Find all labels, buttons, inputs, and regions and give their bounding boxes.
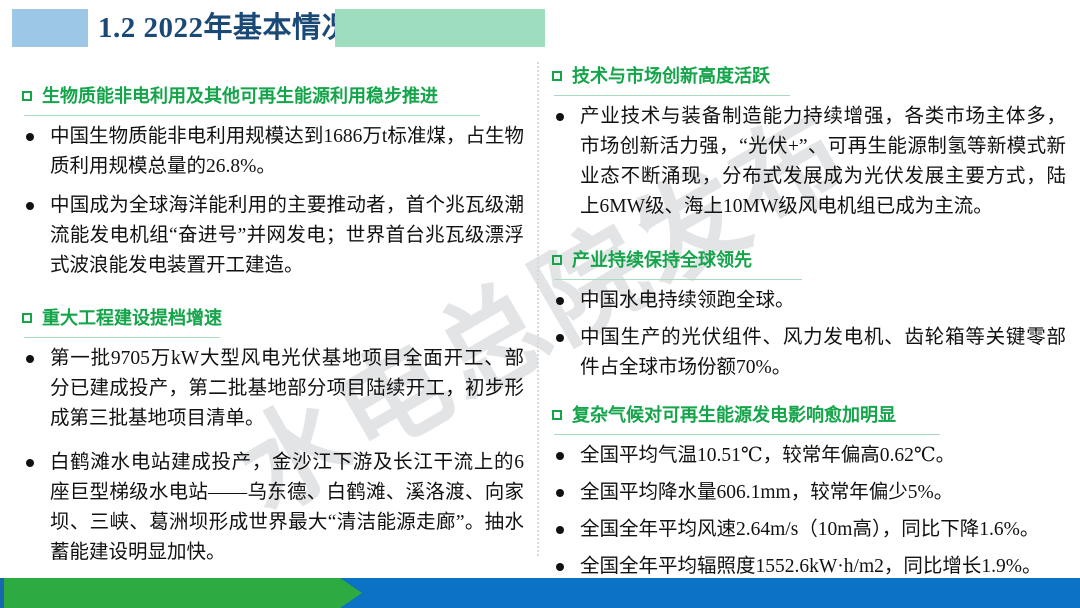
hollow-square-bullet-icon: [22, 91, 32, 101]
bullet-list: 全国平均气温10.51℃，较常年偏高0.62℃。 全国平均降水量606.1mm，…: [552, 441, 1066, 582]
section-underline: [24, 337, 220, 338]
section-heading: 技术与市场创新高度活跃: [552, 62, 1066, 88]
left-column: 生物质能非电利用及其他可再生能源利用稳步推进 中国生物质能非电利用规模达到168…: [22, 82, 524, 577]
slide-header: 1.2 2022年基本情况: [0, 0, 1080, 56]
section-underline: [554, 434, 940, 435]
list-item: 全国全年平均风速2.64m/s（10m高），同比下降1.6%。: [554, 515, 1066, 545]
bullet-list: 中国水电持续领跑全球。 中国生产的光伏组件、风力发电机、齿轮箱等关键零部件占全球…: [552, 286, 1066, 383]
hollow-square-bullet-icon: [22, 313, 32, 323]
bullet-list: 第一批9705万kW大型风电光伏基地项目全面开工、部分已建成投产，第二批基地部分…: [22, 344, 524, 568]
list-item: 中国水电持续领跑全球。: [554, 286, 1066, 316]
section-title: 复杂气候对可再生能源发电影响愈加明显: [572, 401, 896, 427]
section-title: 生物质能非电利用及其他可再生能源利用稳步推进: [42, 82, 438, 108]
section-heading: 产业持续保持全球领先: [552, 246, 1066, 272]
footer-left-edge-accent: [0, 578, 4, 608]
slide-canvas: 水电总院发布 1.2 2022年基本情况 生物质能非电利用及其他可再生能源利用稳…: [0, 0, 1080, 608]
section-major-projects: 重大工程建设提档增速 第一批9705万kW大型风电光伏基地项目全面开工、部分已建…: [22, 304, 524, 568]
spacer: [22, 295, 524, 304]
section-title: 技术与市场创新高度活跃: [572, 62, 770, 88]
section-underline: [554, 95, 790, 96]
hollow-square-bullet-icon: [552, 255, 562, 265]
section-tech-market-innovation: 技术与市场创新高度活跃 产业技术与装备制造能力持续增强，各类市场主体多，市场创新…: [552, 62, 1066, 222]
list-item: 中国成为全球海洋能利用的主要推动者，首个兆瓦级潮流能发电机组“奋进号”并网发电；…: [24, 191, 524, 281]
section-underline: [24, 115, 480, 116]
header-green-accent-block: [335, 9, 545, 47]
list-item: 中国生物质能非电利用规模达到1686万t标准煤，占生物质利用规模总量的26.8%…: [24, 122, 524, 182]
header-blue-accent-block: [12, 9, 88, 47]
list-item: 产业技术与装备制造能力持续增强，各类市场主体多，市场创新活力强，“光伏+”、可再…: [554, 102, 1066, 222]
section-heading: 生物质能非电利用及其他可再生能源利用稳步推进: [22, 82, 524, 108]
list-item: 全国平均降水量606.1mm，较常年偏少5%。: [554, 478, 1066, 508]
page-title: 1.2 2022年基本情况: [98, 6, 351, 50]
list-item: 第一批9705万kW大型风电光伏基地项目全面开工、部分已建成投产，第二批基地部分…: [24, 344, 524, 434]
section-heading: 复杂气候对可再生能源发电影响愈加明显: [552, 401, 1066, 427]
section-heading: 重大工程建设提档增速: [22, 304, 524, 330]
column-divider: [537, 62, 539, 556]
list-item: 中国生产的光伏组件、风力发电机、齿轮箱等关键零部件占全球市场份额70%。: [554, 323, 1066, 383]
slide-footer-bar: [0, 578, 1080, 608]
section-underline: [554, 279, 802, 280]
spacer: [552, 231, 1066, 246]
list-item: 白鹤滩水电站建成投产，金沙江下游及长江干流上的6座巨型梯级水电站——乌东德、白鹤…: [24, 448, 524, 568]
bullet-list: 中国生物质能非电利用规模达到1686万t标准煤，占生物质利用规模总量的26.8%…: [22, 122, 524, 281]
hollow-square-bullet-icon: [552, 410, 562, 420]
right-column: 技术与市场创新高度活跃 产业技术与装备制造能力持续增强，各类市场主体多，市场创新…: [552, 62, 1066, 589]
section-title: 产业持续保持全球领先: [572, 246, 752, 272]
section-biomass-nonpower: 生物质能非电利用及其他可再生能源利用稳步推进 中国生物质能非电利用规模达到168…: [22, 82, 524, 281]
section-industry-global-lead: 产业持续保持全球领先 中国水电持续领跑全球。 中国生产的光伏组件、风力发电机、齿…: [552, 246, 1066, 383]
section-title: 重大工程建设提档增速: [42, 304, 222, 330]
list-item: 全国平均气温10.51℃，较常年偏高0.62℃。: [554, 441, 1066, 471]
section-climate-impact: 复杂气候对可再生能源发电影响愈加明显 全国平均气温10.51℃，较常年偏高0.6…: [552, 401, 1066, 582]
spacer: [552, 392, 1066, 401]
hollow-square-bullet-icon: [552, 71, 562, 81]
bullet-list: 产业技术与装备制造能力持续增强，各类市场主体多，市场创新活力强，“光伏+”、可再…: [552, 102, 1066, 222]
footer-green-chevron: [0, 578, 362, 608]
